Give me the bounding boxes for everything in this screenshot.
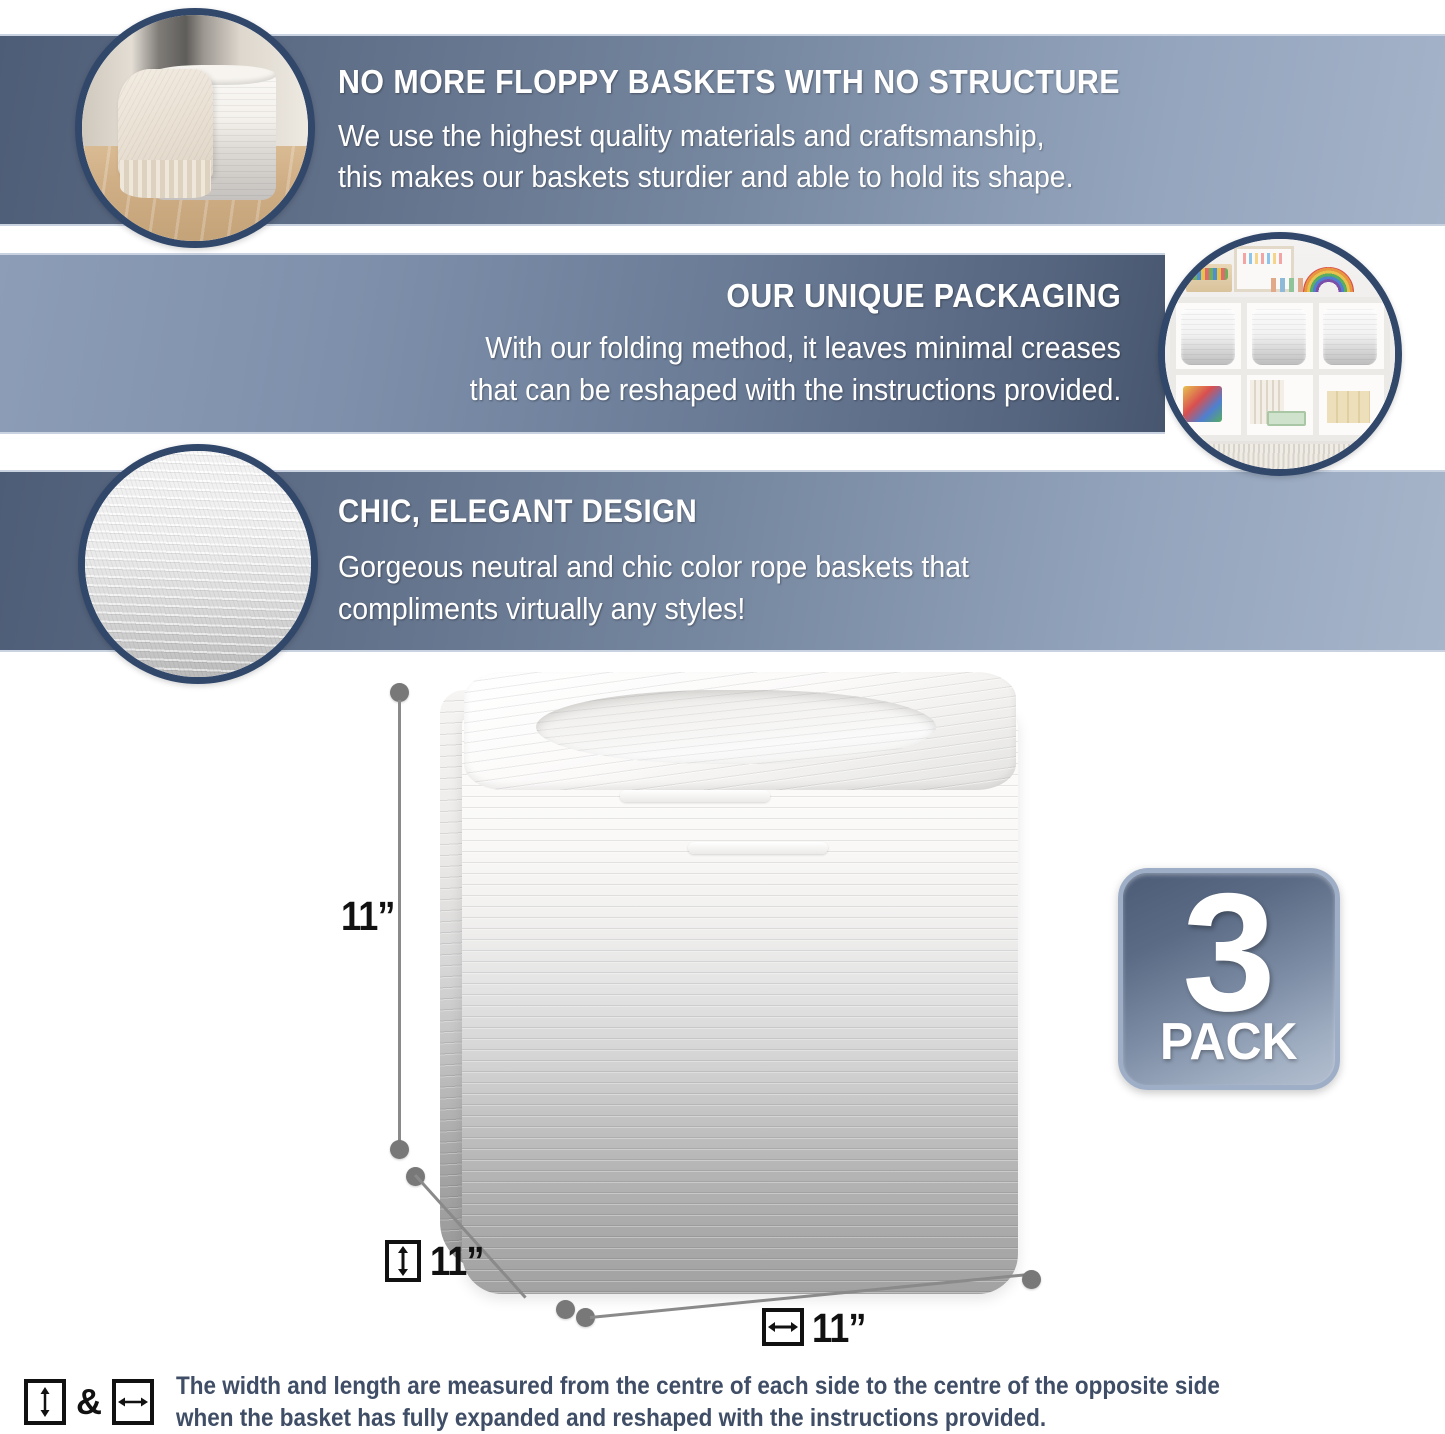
photo-storage-bin [1323, 309, 1377, 365]
basket-interior-opening [536, 690, 936, 764]
banner-3-title: CHIC, ELEGANT DESIGN [338, 493, 1356, 530]
product-image-basket [440, 672, 1040, 1302]
photo-green-book [1267, 411, 1306, 426]
banner-3-line-2: compliments virtually any styles! [338, 588, 1356, 629]
dimension-label-height: 11” [341, 893, 395, 940]
footnote-height-arrow-icon [24, 1379, 66, 1425]
height-arrow-icon [385, 1240, 421, 1282]
photo-peg-dolls [1271, 278, 1303, 292]
dimension-label-width: 11” [812, 1305, 866, 1352]
banner-1-line-2: this makes our baskets sturdier and able… [338, 156, 1356, 197]
banner-3-line-1: Gorgeous neutral and chic color rope bas… [338, 546, 1356, 587]
photo-playroom-scene [1165, 239, 1395, 469]
photo-wooden-abacus-top [1186, 264, 1232, 292]
dimension-dot-height-bottom [390, 1140, 409, 1159]
dimension-dot-depth-end [556, 1300, 575, 1319]
pack-count-word: PACK [1160, 1016, 1298, 1068]
photo-basket-throw-scene [82, 15, 308, 241]
photo-storage-bin [1181, 309, 1235, 365]
footnote-text-block: The width and length are measured from t… [154, 1370, 1336, 1434]
width-arrow-icon [762, 1308, 804, 1346]
photo-wooden-blocks [1327, 391, 1370, 423]
pack-count-number: 3 [1182, 884, 1275, 1022]
photo-rope-closeup [85, 451, 311, 677]
dimension-line-height [398, 700, 401, 1150]
feature-banner-unique-packaging: OUR UNIQUE PACKAGING With our folding me… [0, 253, 1165, 434]
pack-count-badge: 3 PACK [1118, 868, 1340, 1090]
dimension-label-depth: 11” [430, 1238, 484, 1285]
feature-photo-playroom-shelf [1158, 232, 1402, 476]
banner-1-title: NO MORE FLOPPY BASKETS WITH NO STRUCTURE [338, 63, 1356, 101]
photo-cube-shelf-unit [1170, 297, 1391, 442]
footnote-line-2: when the basket has fully expanded and r… [176, 1402, 1220, 1434]
photo-colorful-toy [1183, 386, 1222, 422]
photo-rope-weave-texture [85, 451, 311, 677]
basket-handle [688, 842, 828, 854]
footnote-line-1: The width and length are measured from t… [176, 1370, 1220, 1402]
basket-handle [620, 790, 770, 802]
photo-woven-rug [1165, 444, 1395, 469]
measurement-footnote: & The width and length are measured from… [24, 1374, 1424, 1430]
photo-storage-bin [1252, 309, 1306, 365]
footnote-width-arrow-icon [112, 1379, 154, 1425]
banner-1-line-1: We use the highest quality materials and… [338, 115, 1356, 156]
photo-throw-fringe [120, 160, 210, 198]
banner-2-line-2: that can be reshaped with the instructio… [469, 369, 1121, 410]
dimension-dot-width-end [1022, 1270, 1041, 1289]
banner-2-line-1: With our folding method, it leaves minim… [485, 327, 1121, 368]
feature-photo-basket-with-throw [75, 8, 315, 248]
banner-2-title: OUR UNIQUE PACKAGING [726, 277, 1121, 315]
photo-play-sign [1243, 253, 1284, 265]
feature-photo-rope-texture [78, 444, 318, 684]
footnote-ampersand: & [76, 1384, 102, 1420]
